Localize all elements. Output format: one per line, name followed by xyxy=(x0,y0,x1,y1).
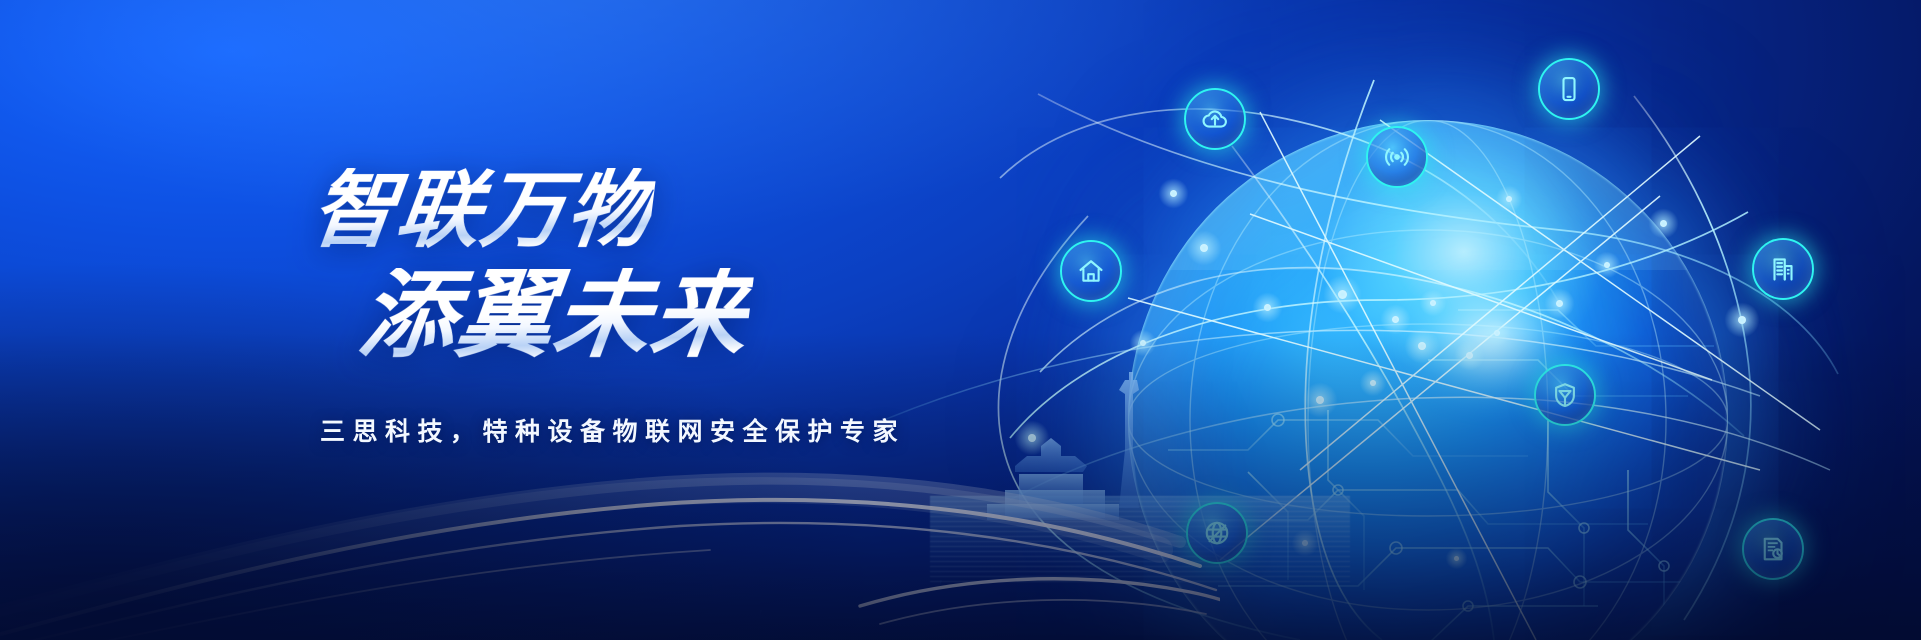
iot-hero-banner: 智联万物 添翼未来 三思科技，特种设备物联网安全保护专家 xyxy=(0,0,1921,640)
wifi-signal-icon[interactable] xyxy=(1366,126,1428,188)
document-report-icon[interactable] xyxy=(1742,518,1804,580)
building-icon[interactable] xyxy=(1752,238,1814,300)
globe-network-icon[interactable] xyxy=(1186,502,1248,564)
home-icon[interactable] xyxy=(1060,240,1122,302)
water-reflection xyxy=(930,496,1350,582)
headline-line-1: 智联万物 xyxy=(307,168,657,252)
cloud-upload-icon[interactable] xyxy=(1184,88,1246,150)
hero-copy-block: 智联万物 添翼未来 三思科技，特种设备物联网安全保护专家 xyxy=(0,0,900,640)
mobile-phone-icon[interactable] xyxy=(1538,58,1600,120)
city-skyline-silhouette xyxy=(975,370,1235,520)
shield-icon[interactable] xyxy=(1534,364,1596,426)
headline-line-2: 添翼未来 xyxy=(354,268,754,364)
hero-subtitle: 三思科技，特种设备物联网安全保护专家 xyxy=(320,412,905,448)
